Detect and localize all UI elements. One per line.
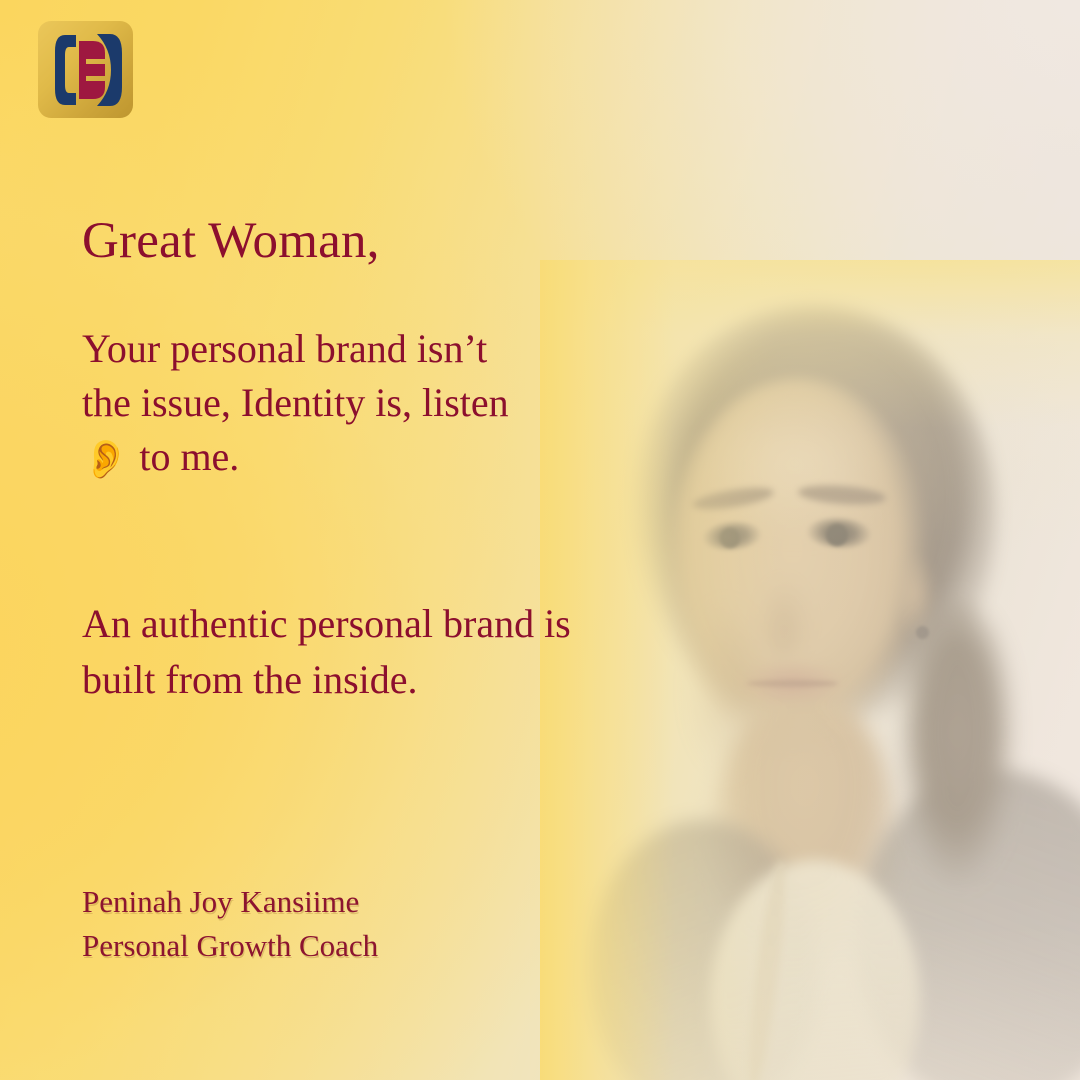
portrait-lip-line — [746, 680, 838, 687]
author-role: Personal Growth Coach — [82, 924, 378, 968]
portrait-nose — [756, 562, 812, 658]
portrait-earring — [916, 626, 929, 639]
support-line-2: built from the inside. — [82, 657, 418, 702]
ear-icon: 👂 — [82, 441, 129, 479]
portrait-pupil-left — [720, 528, 740, 548]
portrait-pupil-right — [826, 524, 848, 546]
lead-line-3: to me. — [139, 434, 239, 479]
brand-logo[interactable] — [38, 21, 133, 118]
portrait-ear — [896, 552, 942, 638]
lead-line-1: Your personal brand isn’t — [82, 326, 487, 371]
brand-logo-icon — [38, 21, 133, 118]
lead-paragraph: Your personal brand isn’t the issue, Ide… — [82, 322, 642, 484]
poster-canvas: Great Woman, Your personal brand isn’t t… — [0, 0, 1080, 1080]
author-name: Peninah Joy Kansiime — [82, 880, 378, 924]
support-line-1: An authentic personal brand is — [82, 601, 571, 646]
lead-line-2: the issue, Identity is, listen — [82, 380, 509, 425]
support-paragraph: An authentic personal brand is built fro… — [82, 596, 682, 708]
page-title: Great Woman, — [82, 216, 380, 267]
signature-block: Peninah Joy Kansiime Personal Growth Coa… — [82, 880, 378, 968]
